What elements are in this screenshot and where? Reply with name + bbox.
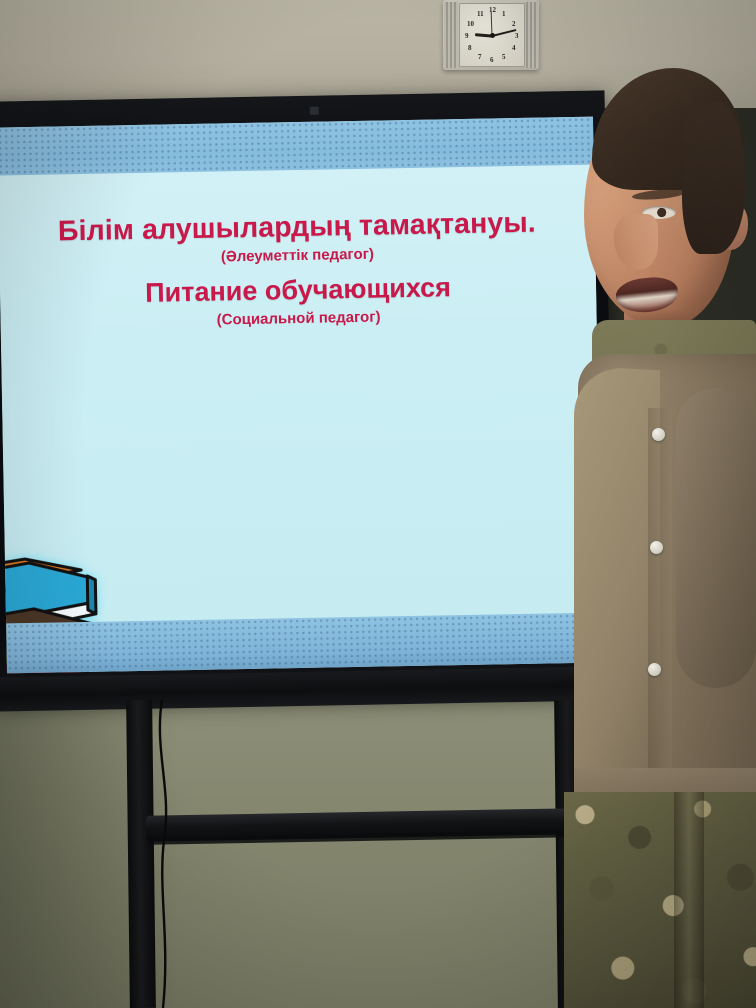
hair-side xyxy=(682,102,746,254)
clock-numeral: 3 xyxy=(515,33,519,40)
clock-numeral: 8 xyxy=(468,45,472,52)
clock-numeral: 6 xyxy=(490,57,494,64)
clock-case-right xyxy=(524,2,538,68)
clock-numeral: 1 xyxy=(502,11,506,18)
clock-numeral: 5 xyxy=(502,54,506,61)
clock-numeral: 9 xyxy=(465,33,469,40)
slide-title-russian: Питание обучающихся xyxy=(0,270,596,311)
clock-numeral: 7 xyxy=(478,54,482,61)
clock-face: 12 1 2 3 4 5 6 7 8 9 10 11 xyxy=(459,3,525,67)
clock-numeral: 4 xyxy=(512,45,516,52)
vest-snap-button xyxy=(652,428,665,441)
display-screen[interactable]: Білім алушылардың тамақтануы. (Әлеуметті… xyxy=(0,117,603,674)
clock-numeral: 10 xyxy=(467,21,474,28)
screen-bottom-band xyxy=(6,613,603,674)
clock-center-pin xyxy=(490,33,495,38)
presenter xyxy=(556,68,756,1008)
display-bezel: Білім алушылардың тамақтануы. (Әлеуметті… xyxy=(0,90,615,701)
clock-minute-hand xyxy=(492,29,517,37)
trouser-crease xyxy=(674,792,704,1008)
nose xyxy=(614,214,658,270)
clock-numeral: 2 xyxy=(512,21,516,28)
clock-case-left xyxy=(444,2,458,68)
vest-placket xyxy=(648,408,672,808)
camouflage-trousers xyxy=(564,792,756,1008)
vest-snap-button xyxy=(648,663,661,676)
power-cable xyxy=(150,700,180,1008)
wall-clock: 12 1 2 3 4 5 6 7 8 9 10 11 xyxy=(443,0,539,70)
presentation-slide: Білім алушылардың тамақтануы. (Әлеуметті… xyxy=(0,165,602,628)
vest-fold xyxy=(676,388,756,688)
slide-title-kazakh: Білім алушылардың тамақтануы. xyxy=(0,207,595,250)
clock-numeral: 11 xyxy=(477,11,484,18)
photo-scene: 12 1 2 3 4 5 6 7 8 9 10 11 Білім алушыла… xyxy=(0,0,756,1008)
display-sensor-icon xyxy=(310,107,319,115)
slide-text-block: Білім алушылардың тамақтануы. (Әлеуметті… xyxy=(0,207,597,333)
clock-second-hand xyxy=(491,11,493,35)
vest-snap-button xyxy=(650,541,663,554)
